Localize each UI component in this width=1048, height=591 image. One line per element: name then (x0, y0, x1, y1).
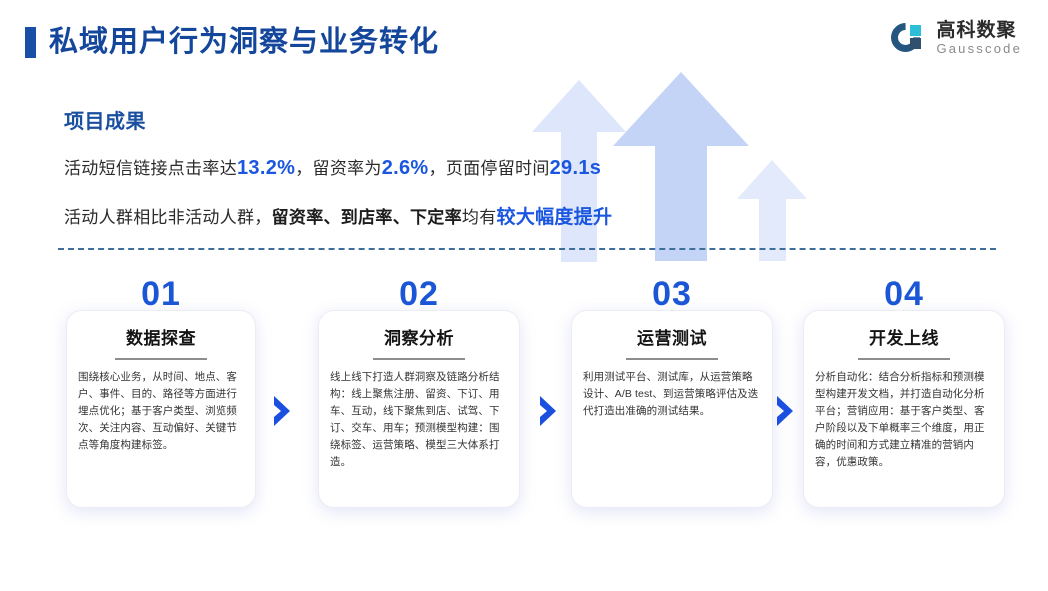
step-card-03[interactable]: 03 运营测试 利用测试平台、测试库，从运营策略设计、A/B test、到运营策… (571, 310, 773, 508)
step-number-04: 04 (804, 275, 1004, 313)
results-l2-highlight: 较大幅度提升 (497, 207, 613, 228)
metric-lead-rate: 2.6% (382, 157, 429, 179)
results-l1-seg2: ，留资率为 (295, 159, 382, 178)
results-l1-seg3: ，页面停留时间 (429, 159, 550, 178)
slide-root: 私域用户行为洞察与业务转化 高科数聚 Gausscode 项目成果 活动短信链接… (0, 0, 1048, 591)
step-number-03: 03 (572, 275, 772, 313)
logo-wordmark: 高科数聚 Gausscode (936, 20, 1022, 56)
brand-logo: 高科数聚 Gausscode (891, 16, 1022, 60)
metric-click-rate: 13.2% (237, 157, 295, 179)
results-l2-bold: 留资率、到店率、下定率 (272, 208, 462, 227)
step-rule-02 (373, 358, 465, 360)
results-block: 项目成果 活动短信链接点击率达13.2%，留资率为2.6%，页面停留时间29.1… (64, 108, 704, 232)
step-card-04[interactable]: 04 开发上线 分析自动化：结合分析指标和预测模型构建开发文档，并打造自动化分析… (803, 310, 1005, 508)
step-body-01: 围绕核心业务，从时间、地点、客户、事件、目的、路径等方面进行埋点优化；基于客户类… (78, 369, 244, 454)
results-line-2: 活动人群相比非活动人群，留资率、到店率、下定率均有较大幅度提升 (64, 204, 704, 232)
step-title-04: 开发上线 (804, 327, 1004, 351)
results-l2-seg2: 均有 (462, 208, 497, 227)
step-number-01: 01 (67, 275, 255, 313)
step-rule-03 (626, 358, 718, 360)
connector-chevron-3 (775, 394, 797, 428)
step-body-03: 利用测试平台、测试库，从运营策略设计、A/B test、到运营策略评估及迭代打造… (583, 369, 761, 420)
step-body-02: 线上线下打造人群洞察及链路分析结构：线上聚焦注册、留资、下订、用车、互动，线下聚… (330, 369, 508, 471)
step-rule-04 (858, 358, 950, 360)
step-title-01: 数据探查 (67, 327, 255, 351)
arrow-up-tiny-right-icon (737, 160, 807, 261)
step-rule-01 (115, 358, 207, 360)
results-line-1: 活动短信链接点击率达13.2%，留资率为2.6%，页面停留时间29.1s (64, 154, 704, 183)
results-heading: 项目成果 (64, 108, 704, 136)
section-divider (58, 248, 996, 250)
results-l1-seg1: 活动短信链接点击率达 (64, 159, 237, 178)
connector-chevron-2 (538, 394, 560, 428)
connector-chevron-1 (272, 394, 294, 428)
logo-square-cyan (910, 25, 921, 36)
logo-name-cn: 高科数聚 (936, 20, 1022, 41)
title-accent-bar (25, 27, 36, 58)
logo-name-en: Gausscode (936, 41, 1022, 56)
step-card-02[interactable]: 02 洞察分析 线上线下打造人群洞察及链路分析结构：线上聚焦注册、留资、下订、用… (318, 310, 520, 508)
process-steps: 01 数据探查 围绕核心业务，从时间、地点、客户、事件、目的、路径等方面进行埋点… (0, 270, 1048, 530)
gausscode-g-icon (891, 20, 927, 56)
step-card-01[interactable]: 01 数据探查 围绕核心业务，从时间、地点、客户、事件、目的、路径等方面进行埋点… (66, 310, 256, 508)
metric-dwell-time: 29.1s (550, 157, 602, 179)
step-title-02: 洞察分析 (319, 327, 519, 351)
page-title: 私域用户行为洞察与业务转化 (49, 20, 439, 64)
step-number-02: 02 (319, 275, 519, 313)
step-body-04: 分析自动化：结合分析指标和预测模型构建开发文档，并打造自动化分析平台；营销应用：… (815, 369, 993, 471)
logo-square-dark (910, 38, 921, 49)
step-title-03: 运营测试 (572, 327, 772, 351)
results-l2-seg1: 活动人群相比非活动人群， (64, 208, 272, 227)
